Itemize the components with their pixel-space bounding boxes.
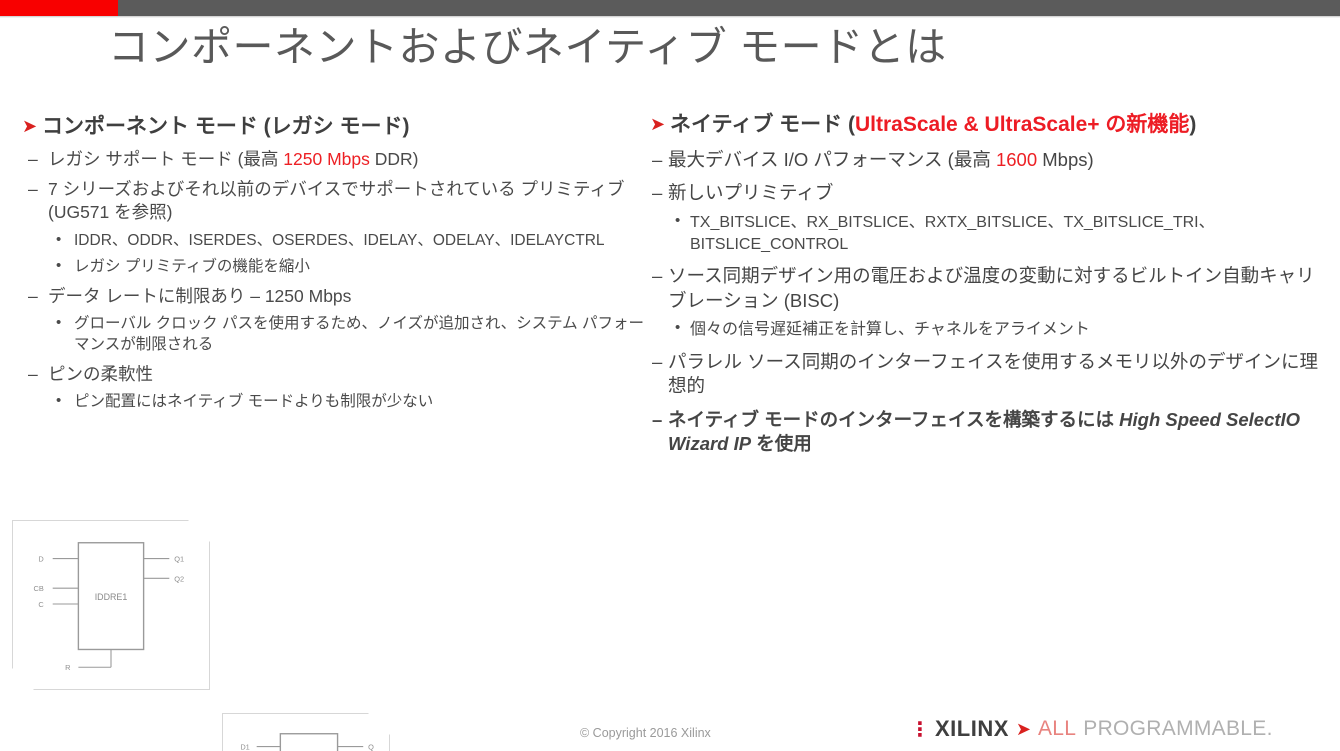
right-heading-emphasis: UltraScale & UltraScale+ の新機能: [855, 113, 1189, 136]
svg-text:C: C: [38, 600, 44, 609]
list-item: レガシ プリミティブの機能を縮小: [22, 257, 647, 278]
list-item: ピンの柔軟性: [22, 363, 647, 386]
svg-text:Q1: Q1: [174, 555, 184, 564]
highlight-value: 1600: [996, 149, 1037, 170]
list-item-text: ネイティブ モードのインターフェイスを構築するには: [668, 409, 1119, 430]
figure-strip: IDDRE1 D CB C Q1 Q2 R: [0, 515, 1340, 710]
right-heading-suffix: ): [1189, 113, 1196, 136]
list-item: 新しいプリミティブ: [650, 181, 1322, 206]
left-heading-label: コンポーネント モード (レガシ モード): [42, 115, 410, 138]
chevron-bullet-icon: ➤: [650, 113, 665, 136]
highlight-value: 1250 Mbps: [283, 149, 370, 169]
list-item: ピン配置にはネイティブ モードよりも制限が少ない: [22, 392, 647, 413]
list-item: 個々の信号遅延補正を計算し、チャネルをアライメント: [650, 319, 1322, 340]
xilinx-wordmark: XILINX: [935, 716, 1009, 742]
top-accent-bar: [0, 0, 1340, 16]
list-item-text-tail: DDR): [370, 149, 419, 169]
figure-oddre1: ODDRE1 D1 D2 C Q SR: [222, 713, 390, 751]
list-item: ソース同期デザイン用の電圧および温度の変動に対するビルトイン自動キャリブレーショ…: [650, 264, 1322, 313]
list-item-highlighted: ネイティブ モードのインターフェイスを構築するには High Speed Sel…: [650, 408, 1322, 457]
svg-text:R: R: [65, 663, 70, 672]
list-item: グローバル クロック パスを使用するため、ノイズが追加され、システム パフォーマ…: [22, 314, 647, 356]
right-column-heading: ➤ ネイティブ モード (UltraScale & UltraScale+ の新…: [650, 112, 1322, 139]
list-item: データ レートに制限あり – 1250 Mbps: [22, 285, 647, 308]
top-bar-red-block: [0, 0, 118, 16]
page-title: コンポーネントおよびネイティブ モードとは: [108, 24, 947, 71]
xilinx-mark-icon: ⋮: [910, 717, 928, 742]
xilinx-logo: ⋮ XILINX ➤ ALL PROGRAMMABLE.: [910, 716, 1273, 742]
left-column: ➤ コンポーネント モード (レガシ モード) レガシ サポート モード (最高…: [22, 114, 647, 413]
list-item: 7 シリーズおよびそれ以前のデバイスでサポートされている プリミティブ (UG5…: [22, 178, 647, 225]
list-item-text-tail: を使用: [751, 433, 812, 454]
iddre1-block-label: IDDRE1: [95, 592, 128, 602]
list-item-text: レガシ サポート モード (最高: [48, 149, 283, 169]
list-item-text: 最大デバイス I/O パフォーマンス (最高: [668, 149, 996, 170]
chevron-bullet-icon: ➤: [22, 115, 37, 138]
list-item-text-tail: Mbps): [1037, 149, 1094, 170]
list-item: レガシ サポート モード (最高 1250 Mbps DDR): [22, 148, 647, 171]
copyright-text: © Copyright 2016 Xilinx: [580, 726, 711, 740]
tagline-all: ALL: [1038, 717, 1076, 741]
top-bar-gray-block: [118, 0, 1340, 16]
figure-iddre1: IDDRE1 D CB C Q1 Q2 R: [12, 520, 210, 690]
svg-text:Q: Q: [368, 743, 374, 751]
iddre1-schematic: IDDRE1 D CB C Q1 Q2 R: [13, 521, 209, 689]
oddre1-schematic: ODDRE1 D1 D2 C Q SR: [223, 714, 389, 751]
list-item: IDDR、ODDR、ISERDES、OSERDES、IDELAY、ODELAY、…: [22, 231, 647, 252]
left-column-heading: ➤ コンポーネント モード (レガシ モード): [22, 114, 647, 141]
tagline-programmable: PROGRAMMABLE.: [1083, 717, 1272, 741]
chevron-icon: ➤: [1016, 719, 1031, 740]
list-item: パラレル ソース同期のインターフェイスを使用するメモリ以外のデザインに理想的: [650, 350, 1322, 399]
top-bar-shadow: [0, 16, 1340, 18]
right-column: ➤ ネイティブ モード (UltraScale & UltraScale+ の新…: [650, 112, 1322, 457]
svg-text:Q2: Q2: [174, 574, 184, 583]
right-heading-prefix: ネイティブ モード (: [670, 113, 855, 136]
list-item: TX_BITSLICE、RX_BITSLICE、RXTX_BITSLICE、TX…: [650, 212, 1322, 255]
svg-text:D1: D1: [240, 743, 249, 751]
svg-text:CB: CB: [34, 584, 44, 593]
svg-text:D: D: [38, 555, 43, 564]
list-item: 最大デバイス I/O パフォーマンス (最高 1600 Mbps): [650, 148, 1322, 173]
slide-root: コンポーネントおよびネイティブ モードとは ➤ コンポーネント モード (レガシ…: [0, 0, 1340, 751]
